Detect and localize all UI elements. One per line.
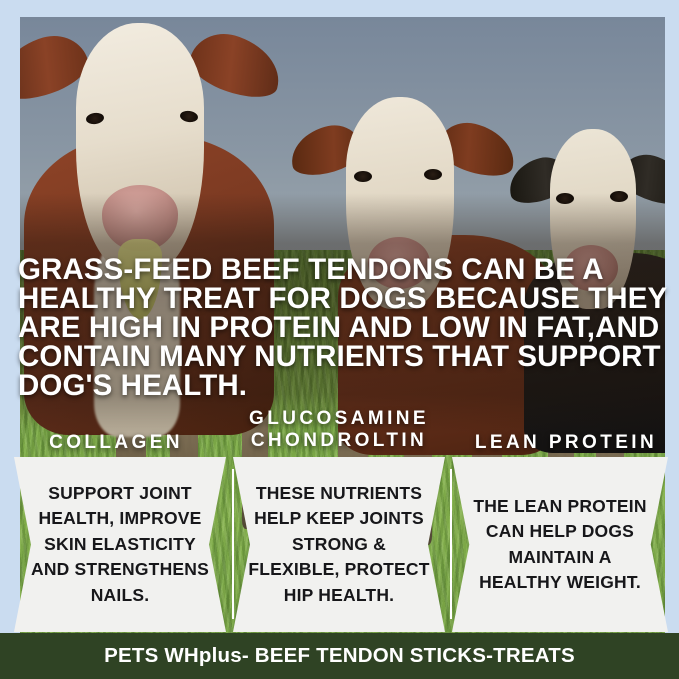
- benefit-card-glucosamine-chondroltin: THESE NUTRIENTS HELP KEEP JOINTS STRONG …: [233, 457, 445, 632]
- cow-eye-right: [610, 191, 628, 202]
- benefit-card-text: THESE NUTRIENTS HELP KEEP JOINTS STRONG …: [247, 481, 431, 609]
- benefit-card-text: THE LEAN PROTEIN CAN HELP DOGS MAINTAIN …: [466, 494, 654, 596]
- brand-banner-text: PETS WHplus- BEEF TENDON STICKS-TREATS: [104, 644, 575, 668]
- benefit-card-text: SUPPORT JOINT HEALTH, IMPROVE SKIN ELAST…: [28, 481, 212, 609]
- benefit-heading-lean-protein: LEAN PROTEIN: [456, 432, 676, 454]
- cow-eye-left: [354, 171, 372, 182]
- brand-banner: PETS WHplus- BEEF TENDON STICKS-TREATS: [0, 633, 679, 679]
- benefit-card-collagen: SUPPORT JOINT HEALTH, IMPROVE SKIN ELAST…: [14, 457, 226, 632]
- benefit-heading-glucosamine-chondroltin: GLUCOSAMINE CHONDROLTIN: [224, 408, 454, 452]
- product-infographic-poster: GRASS-FEED BEEF TENDONS CAN BE A HEALTHY…: [0, 0, 679, 679]
- benefit-card-lean-protein: THE LEAN PROTEIN CAN HELP DOGS MAINTAIN …: [452, 457, 668, 632]
- benefit-cards: SUPPORT JOINT HEALTH, IMPROVE SKIN ELAST…: [0, 457, 679, 632]
- benefit-headings: COLLAGEN GLUCOSAMINE CHONDROLTIN LEAN PR…: [0, 404, 679, 460]
- card-divider: [450, 469, 452, 619]
- card-divider: [232, 469, 234, 619]
- cow-eye-right: [424, 169, 442, 180]
- benefit-heading-collagen: COLLAGEN: [10, 432, 222, 454]
- cow-eye-left: [556, 193, 574, 204]
- page-title: GRASS-FEED BEEF TENDONS CAN BE A HEALTHY…: [18, 255, 673, 400]
